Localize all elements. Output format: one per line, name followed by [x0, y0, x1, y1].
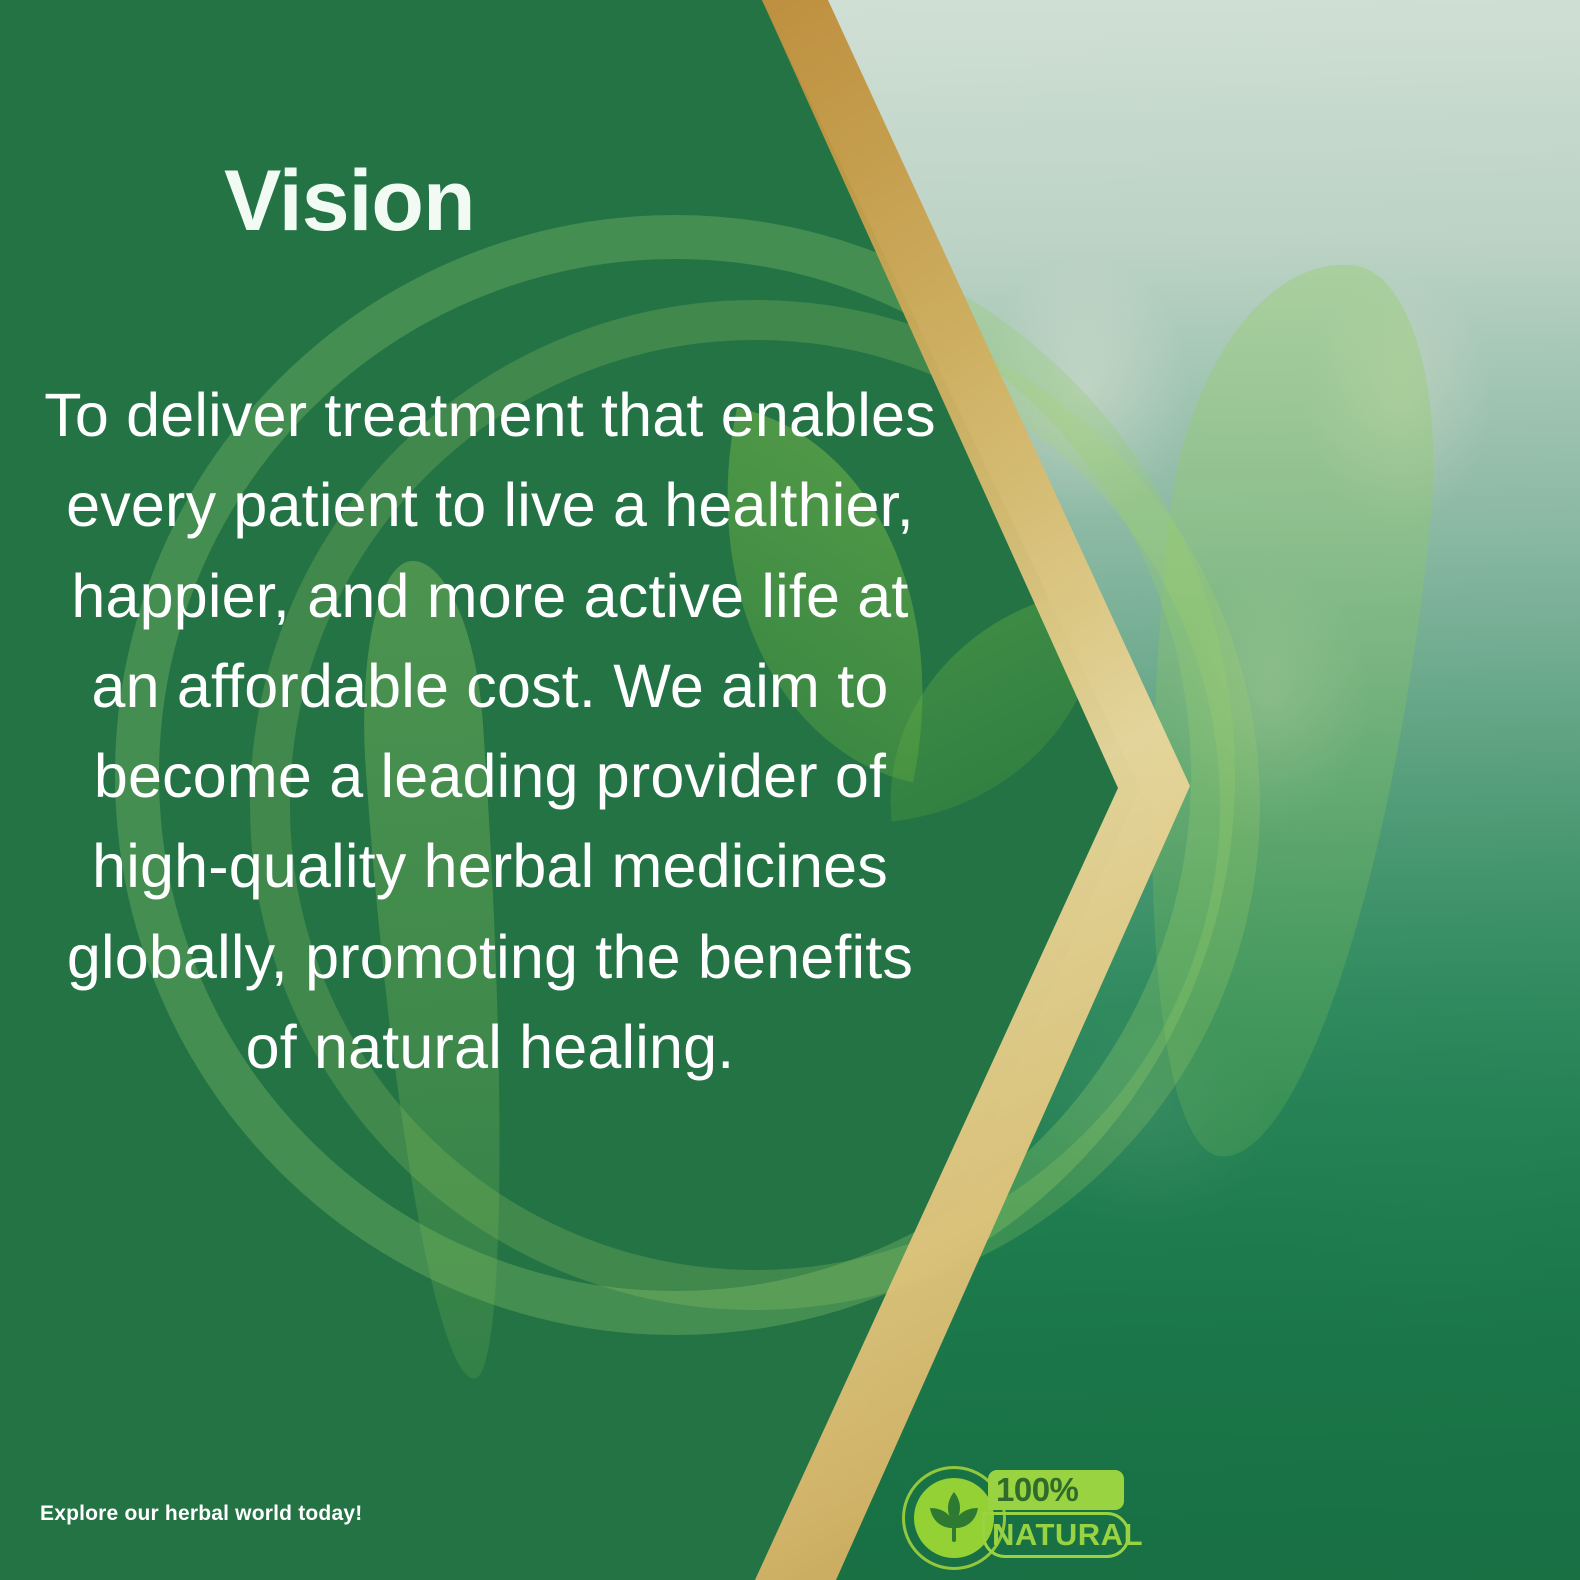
- vision-statement-text: To deliver treatment that enables every …: [40, 370, 940, 1092]
- natural-badge: 100% NATURAL: [900, 1462, 1132, 1574]
- badge-word-label: NATURAL: [992, 1514, 1128, 1556]
- page-title: Vision: [224, 158, 475, 244]
- badge-percent-label: 100%: [996, 1471, 1124, 1509]
- footer-cta-text: Explore our herbal world today!: [40, 1502, 362, 1526]
- vision-slide: Vision To deliver treatment that enables…: [0, 0, 1580, 1580]
